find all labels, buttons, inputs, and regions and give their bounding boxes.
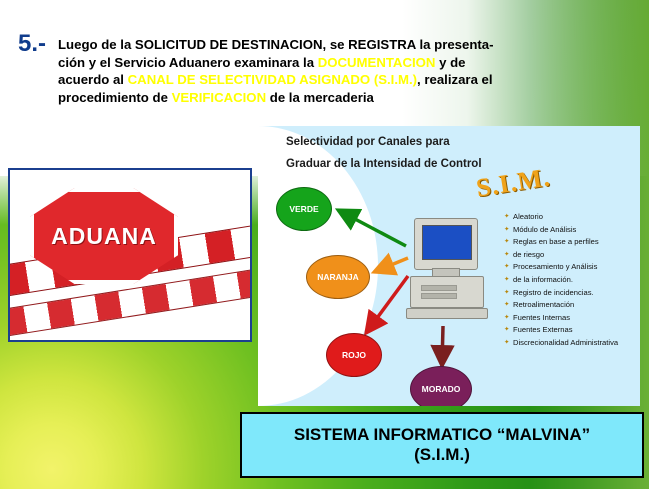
header-line: ción y el Servicio Aduanero examinara la… (58, 54, 636, 72)
header-highlight: VERIFICACION (172, 90, 267, 105)
bullet-item: Aleatorio (504, 212, 640, 223)
header-text: acuerdo al (58, 72, 128, 87)
bullet-item: Registro de incidencias. (504, 288, 640, 299)
channel-rojo: ROJO (326, 333, 382, 377)
header-text: ción y el Servicio Aduanero examinara la (58, 55, 318, 70)
header-line: Luego de la SOLICITUD DE DESTINACION, se… (58, 36, 636, 54)
channel-morado: MORADO (410, 366, 472, 406)
bullet-item: Módulo de Análisis (504, 225, 640, 236)
header-text: de la mercaderia (266, 90, 374, 105)
slide-background: 5.- Luego de la SOLICITUD DE DESTINACION… (0, 0, 649, 489)
header-line: acuerdo al CANAL DE SELECTIVIDAD ASIGNAD… (58, 71, 636, 89)
selectivity-diagram: Selectividad por Canales para Graduar de… (258, 126, 640, 406)
bullet-item: Reglas en base a perfiles (504, 237, 640, 248)
bullet-item: Procesamiento y Análisis (504, 262, 640, 273)
channel-naranja: NARANJA (306, 255, 370, 299)
sim-logo-text: S.I.M. (474, 162, 552, 203)
header-text: procedimiento de (58, 90, 172, 105)
keyboard-shape (406, 308, 488, 319)
diagram-title-line1: Selectividad por Canales para (286, 136, 450, 148)
caption-line1: SISTEMA INFORMATICO “MALVINA” (294, 425, 590, 445)
computer-tower (410, 276, 484, 308)
bullet-item: de la información. (504, 275, 640, 286)
channel-verde: VERDE (276, 187, 332, 231)
header-highlight: DOCUMENTACION (318, 55, 436, 70)
bullet-item: de riesgo (504, 250, 640, 261)
monitor-screen (422, 225, 472, 260)
header-paragraph: Luego de la SOLICITUD DE DESTINACION, se… (58, 36, 636, 106)
header-text: Luego de la SOLICITUD DE DESTINACION, se… (58, 37, 494, 52)
caption-line2: (S.I.M.) (414, 445, 470, 465)
caption-box: SISTEMA INFORMATICO “MALVINA” (S.I.M.) (240, 412, 644, 478)
aduana-sign-text: ADUANA (30, 188, 178, 284)
monitor-shape (414, 218, 478, 270)
aduana-photo: ADUANA (8, 168, 252, 342)
bullet-item: Retroalimentación (504, 300, 640, 311)
slide-number: 5.- (18, 30, 46, 58)
bullet-item: Discrecionalidad Administrativa (504, 338, 640, 349)
header-line: procedimiento de VERIFICACION de la merc… (58, 89, 636, 107)
drive-slot-2 (421, 293, 457, 299)
diagram-title-line2: Graduar de la Intensidad de Control (286, 158, 482, 170)
header-text: , realizara el (417, 72, 493, 87)
bullet-item: Fuentes Externas (504, 325, 640, 336)
header-highlight: CANAL DE SELECTIVIDAD ASIGNADO (S.I.M.) (128, 72, 417, 87)
diagram-bullet-list: AleatorioMódulo de AnálisisReglas en bas… (504, 212, 640, 351)
computer-icon (406, 218, 492, 322)
header-text: y de (435, 55, 465, 70)
bullet-item: Fuentes Internas (504, 313, 640, 324)
drive-slot-1 (421, 285, 457, 291)
octagon-sign-icon: ADUANA (30, 188, 178, 284)
aduana-photo-inner: ADUANA (10, 170, 250, 340)
